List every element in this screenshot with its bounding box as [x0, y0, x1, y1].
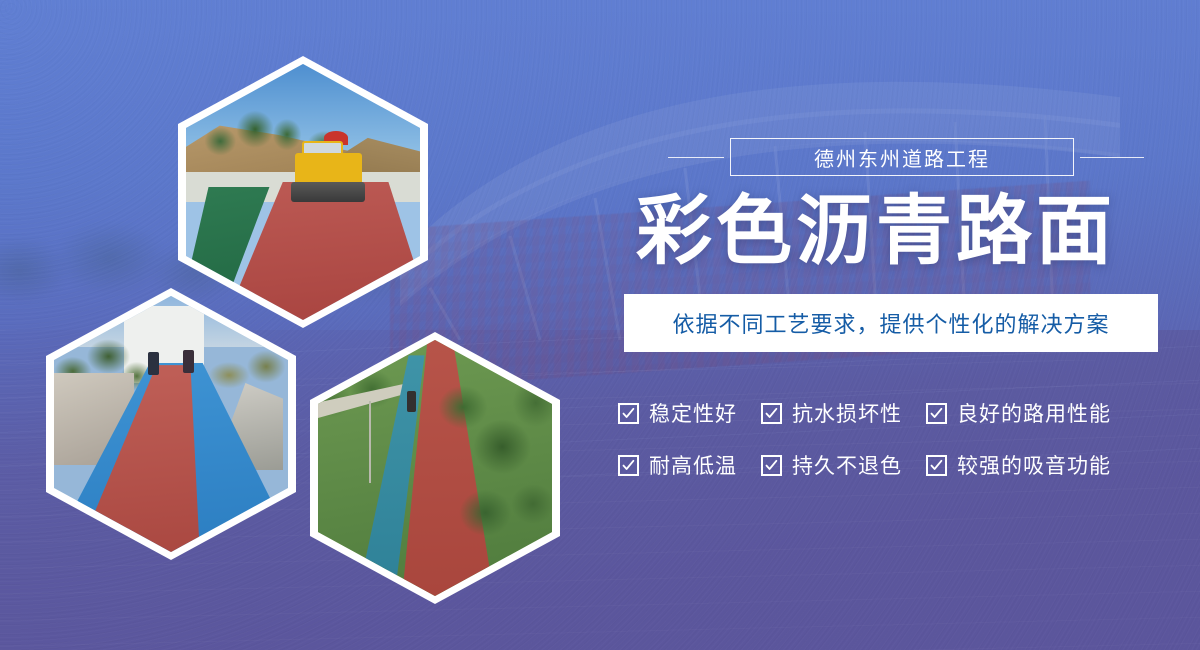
feature-label: 抗水损坏性 [792, 398, 902, 428]
red-blue-path-image [54, 296, 288, 552]
feature-item: 良好的路用性能 [926, 398, 1111, 428]
feature-item: 较强的吸音功能 [926, 450, 1111, 480]
check-square-icon [926, 403, 947, 424]
tagline-box: 德州东州道路工程 [730, 138, 1074, 176]
feature-label: 持久不退色 [792, 450, 902, 480]
greenway-path-image [318, 340, 552, 596]
feature-label: 良好的路用性能 [957, 398, 1111, 428]
feature-item: 耐高低温 [618, 450, 737, 480]
brand-tagline: 德州东州道路工程 [668, 138, 1144, 176]
feature-row: 稳定性好 抗水损坏性 良好的路用性能 [618, 392, 1178, 434]
promo-banner: 德州东州道路工程 彩色沥青路面 依据不同工艺要求，提供个性化的解决方案 稳定性好 [0, 0, 1200, 650]
check-square-icon [761, 403, 782, 424]
road-roller-image [186, 64, 420, 320]
page-title: 彩色沥青路面 [636, 186, 1156, 278]
feature-label: 稳定性好 [649, 398, 737, 428]
feature-list: 稳定性好 抗水损坏性 良好的路用性能 [618, 392, 1178, 496]
check-square-icon [618, 403, 639, 424]
feature-item: 持久不退色 [761, 450, 902, 480]
tagline-text: 德州东州道路工程 [814, 143, 990, 172]
feature-item: 抗水损坏性 [761, 398, 902, 428]
check-square-icon [618, 455, 639, 476]
tagline-rule-right [1080, 157, 1144, 158]
feature-row: 耐高低温 持久不退色 较强的吸音功能 [618, 444, 1178, 486]
check-square-icon [761, 455, 782, 476]
subtitle-text: 依据不同工艺要求，提供个性化的解决方案 [672, 307, 1109, 339]
feature-item: 稳定性好 [618, 398, 737, 428]
feature-label: 耐高低温 [649, 450, 737, 480]
tagline-rule-left [668, 157, 724, 158]
check-square-icon [926, 455, 947, 476]
subtitle-bar: 依据不同工艺要求，提供个性化的解决方案 [624, 294, 1158, 352]
roller-vehicle-icon [289, 141, 369, 208]
feature-label: 较强的吸音功能 [957, 450, 1111, 480]
